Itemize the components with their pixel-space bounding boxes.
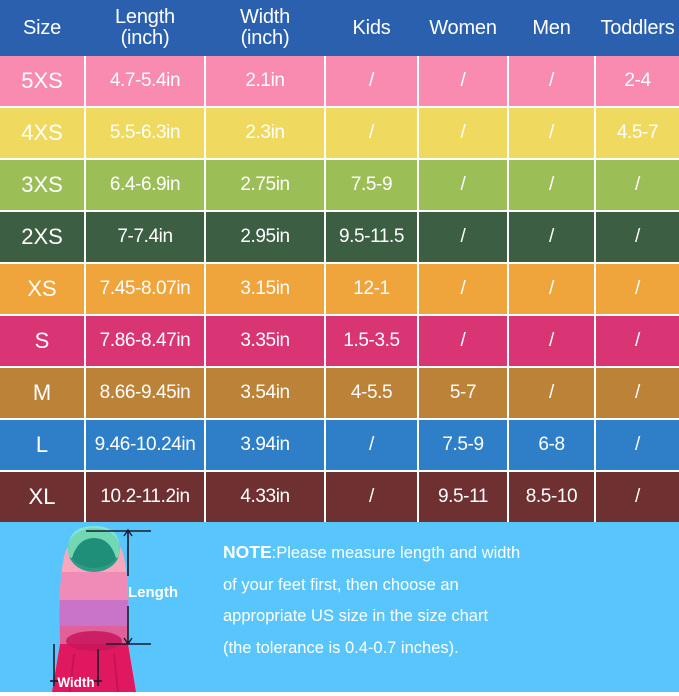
cell-kids: 4-5.5 [325,367,418,419]
cell-women: / [418,159,508,211]
cell-width: 2.75in [205,159,325,211]
cell-width: 2.95in [205,211,325,263]
cell-women: / [418,107,508,159]
size-chart-page: Size Length (inch) Width (inch) Kids Wom… [0,0,679,679]
cell-men: / [508,107,595,159]
table-row: 4XS5.5-6.3in2.3in///4.5-7 [0,107,679,159]
cell-women: / [418,56,508,107]
cell-length: 9.46-10.24in [85,419,205,471]
note-panel: Length Width NOTE:Please measure length … [0,522,679,692]
cell-size: XL [0,471,85,522]
cell-toddlers: / [595,211,679,263]
cell-men: / [508,367,595,419]
cell-size: 5XS [0,56,85,107]
cell-toddlers: / [595,159,679,211]
column-header-kids-label: Kids [352,17,390,39]
table-row: M8.66-9.45in3.54in4-5.55-7// [0,367,679,419]
column-header-men-label: Men [532,17,570,39]
cell-width: 4.33in [205,471,325,522]
cell-length: 7.86-8.47in [85,315,205,367]
cell-toddlers: / [595,315,679,367]
cell-size: XS [0,263,85,315]
cell-toddlers: / [595,367,679,419]
cell-size: L [0,419,85,471]
table-row: XL10.2-11.2in4.33in/9.5-118.5-10/ [0,471,679,522]
fin-heel-cut [66,631,122,651]
column-header-toddlers: Toddlers [595,0,679,56]
cell-men: / [508,211,595,263]
note-line-1: NOTE:Please measure length and width [223,536,667,570]
note-line-3: appropriate US size in the size chart [223,601,667,633]
cell-toddlers: 2-4 [595,56,679,107]
table-body: 5XS4.7-5.4in2.1in///2-44XS5.5-6.3in2.3in… [0,56,679,522]
cell-size: 3XS [0,159,85,211]
cell-toddlers: / [595,263,679,315]
cell-length: 7.45-8.07in [85,263,205,315]
cell-kids: 1.5-3.5 [325,315,418,367]
table-row: 5XS4.7-5.4in2.1in///2-4 [0,56,679,107]
cell-size: S [0,315,85,367]
column-header-width: Width (inch) [205,0,325,56]
cell-width: 3.15in [205,263,325,315]
note-text-block: NOTE:Please measure length and width of … [215,522,679,692]
cell-width: 3.94in [205,419,325,471]
cell-women: 9.5-11 [418,471,508,522]
table-header-row: Size Length (inch) Width (inch) Kids Wom… [0,0,679,56]
column-header-length-unit: (inch) [88,28,202,49]
table-row: L9.46-10.24in3.94in/7.5-96-8/ [0,419,679,471]
cell-kids: / [325,56,418,107]
cell-men: / [508,315,595,367]
cell-toddlers: / [595,471,679,522]
cell-kids: 12-1 [325,263,418,315]
cell-kids: / [325,107,418,159]
cell-men: / [508,56,595,107]
cell-women: / [418,211,508,263]
column-header-length-label: Length [115,6,175,28]
cell-men: / [508,263,595,315]
cell-kids: 9.5-11.5 [325,211,418,263]
table-row: 3XS6.4-6.9in2.75in7.5-9/// [0,159,679,211]
column-header-women: Women [418,0,508,56]
cell-length: 10.2-11.2in [85,471,205,522]
column-header-women-label: Women [429,17,497,39]
cell-length: 4.7-5.4in [85,56,205,107]
table-row: S7.86-8.47in3.35in1.5-3.5/// [0,315,679,367]
cell-kids: 7.5-9 [325,159,418,211]
column-header-width-label: Width [240,6,290,28]
cell-width: 2.3in [205,107,325,159]
cell-length: 5.5-6.3in [85,107,205,159]
note-line-4: (the tolerance is 0.4-0.7 inches). [223,633,667,665]
width-label: Width [57,675,94,690]
size-chart-table: Size Length (inch) Width (inch) Kids Wom… [0,0,679,522]
cell-width: 2.1in [205,56,325,107]
cell-size: 2XS [0,211,85,263]
cell-width: 3.54in [205,367,325,419]
cell-toddlers: / [595,419,679,471]
cell-length: 7-7.4in [85,211,205,263]
note-line-2: of your feet first, then choose an [223,570,667,602]
note-line-1-text: :Please measure length and width [272,544,521,562]
note-label: NOTE [223,542,272,562]
cell-men: / [508,159,595,211]
column-header-size: Size [0,0,85,56]
table-row: XS7.45-8.07in3.15in12-1/// [0,263,679,315]
column-header-kids: Kids [325,0,418,56]
column-header-size-label: Size [23,17,61,39]
table-header: Size Length (inch) Width (inch) Kids Wom… [0,0,679,56]
cell-size: 4XS [0,107,85,159]
cell-women: / [418,263,508,315]
cell-length: 8.66-9.45in [85,367,205,419]
cell-men: 8.5-10 [508,471,595,522]
fin-illustration-wrap: Length Width [0,522,215,692]
column-header-toddlers-label: Toddlers [601,17,675,39]
length-label: Length [128,584,178,601]
table-row: 2XS7-7.4in2.95in9.5-11.5/// [0,211,679,263]
cell-length: 6.4-6.9in [85,159,205,211]
cell-women: 7.5-9 [418,419,508,471]
column-header-men: Men [508,0,595,56]
cell-width: 3.35in [205,315,325,367]
cell-toddlers: 4.5-7 [595,107,679,159]
fin-body [38,524,178,696]
cell-size: M [0,367,85,419]
column-header-width-unit: (inch) [208,28,322,49]
cell-women: 5-7 [418,367,508,419]
cell-men: 6-8 [508,419,595,471]
column-header-length: Length (inch) [85,0,205,56]
cell-kids: / [325,419,418,471]
cell-kids: / [325,471,418,522]
cell-women: / [418,315,508,367]
swim-fin-diagram: Length Width [8,524,208,696]
